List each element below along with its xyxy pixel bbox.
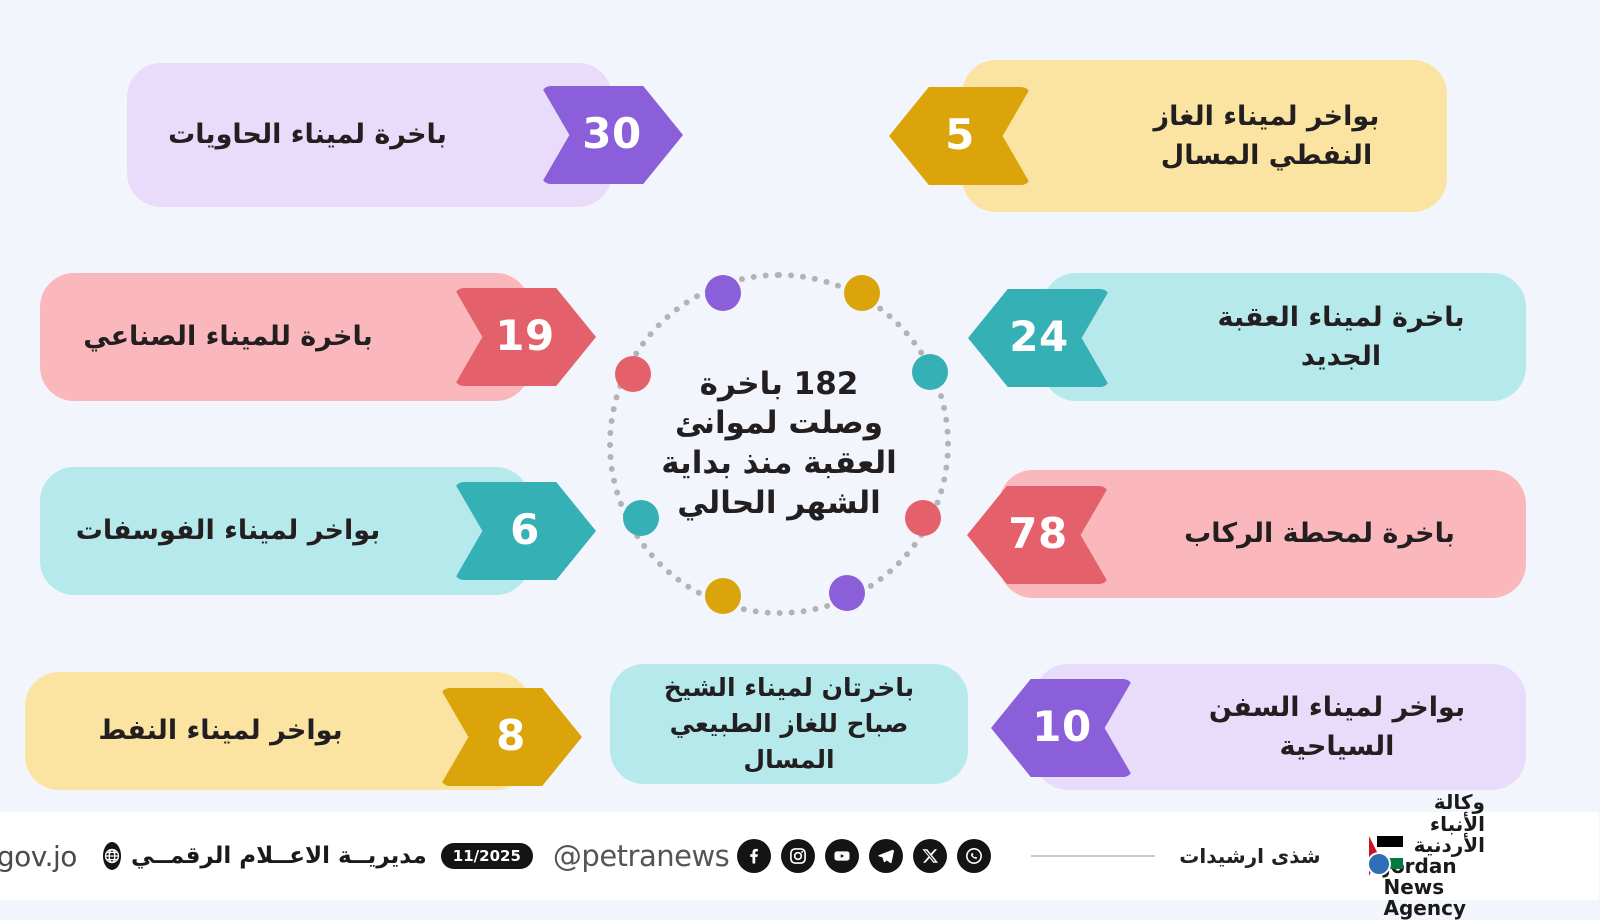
- whatsapp-icon[interactable]: [958, 839, 992, 873]
- card-label: بواخر لميناء النفط: [26, 711, 531, 750]
- circle-dot-teal-right-top: [913, 354, 949, 390]
- telegram-icon[interactable]: [870, 839, 904, 873]
- badge-value: 19: [496, 311, 555, 360]
- badge-value: 30: [583, 109, 642, 158]
- card-label: باخرة لميناء الحاويات: [128, 115, 613, 154]
- circle-dot-red-right-bottom: [906, 500, 942, 536]
- footer: وكالة الأنباء الأردنية Jordan News Agenc…: [0, 812, 1600, 900]
- circle-dot-teal-left-bottom: [624, 500, 660, 536]
- facebook-icon[interactable]: [738, 839, 772, 873]
- badge-value: 8: [497, 711, 527, 760]
- center-total-circle: 182 باخرة وصلت لموانئ العقبة منذ بداية ا…: [608, 272, 952, 616]
- card-new-aqaba-port: باخرة لميناء العقبة الجديد: [1043, 273, 1527, 401]
- circle-dot-purple-top-left: [706, 275, 742, 311]
- center-total-text: 182 باخرة وصلت لموانئ العقبة منذ بداية ا…: [655, 365, 905, 524]
- instagram-icon[interactable]: [782, 839, 816, 873]
- circle-dot-gold-top-right: [845, 275, 881, 311]
- card-label: باخرة لميناء العقبة الجديد: [1043, 298, 1527, 376]
- website-url: www.petra.gov.jo: [0, 840, 78, 873]
- badge-value: 78: [1009, 509, 1068, 558]
- credit-author: شذى ارشيدات: [1180, 844, 1321, 868]
- card-label: بواخر لميناء الفوسفات: [41, 511, 531, 550]
- social-handle: @petranews: [554, 839, 730, 873]
- youtube-icon[interactable]: [826, 839, 860, 873]
- social-icons: [738, 839, 1002, 873]
- x-twitter-icon[interactable]: [914, 839, 948, 873]
- date-badge: 11/2025: [442, 843, 534, 869]
- badge-value: 24: [1010, 312, 1069, 361]
- card-label: باخرتان لميناء الشيخ صباح للغاز الطبيعي …: [611, 670, 969, 779]
- circle-dot-gold-bottom-left: [706, 578, 742, 614]
- card-lng-oil-gas-port: بواخر لميناء الغاز النفطي المسال: [963, 60, 1448, 212]
- jordan-flag-icon: [1370, 836, 1385, 876]
- card-label: باخرة للميناء الصناعي: [41, 317, 531, 356]
- website-globe-icon: [104, 842, 122, 870]
- badge-value: 5: [946, 110, 976, 159]
- circle-dot-red-left-top: [616, 356, 652, 392]
- petra-logo: وكالة الأنباء الأردنية Jordan News Agenc…: [1366, 792, 1496, 919]
- card-label: بواخر لميناء الغاز النفطي المسال: [963, 97, 1448, 175]
- infographic-root: باخرة لميناء الحاويات 30 بواخر لميناء ال…: [0, 0, 1600, 900]
- department-name: مديريــة الاعــلام الرقمــي: [132, 843, 428, 869]
- badge-value: 6: [511, 505, 541, 554]
- footer-divider: [1032, 855, 1156, 857]
- card-containers-port: باخرة لميناء الحاويات: [128, 63, 613, 207]
- badge-value: 10: [1033, 702, 1092, 751]
- card-sheikh-sabah-lng-port: باخرتان لميناء الشيخ صباح للغاز الطبيعي …: [611, 664, 969, 784]
- circle-dot-purple-bottom-right: [830, 575, 866, 611]
- globe-icon: [1368, 852, 1392, 876]
